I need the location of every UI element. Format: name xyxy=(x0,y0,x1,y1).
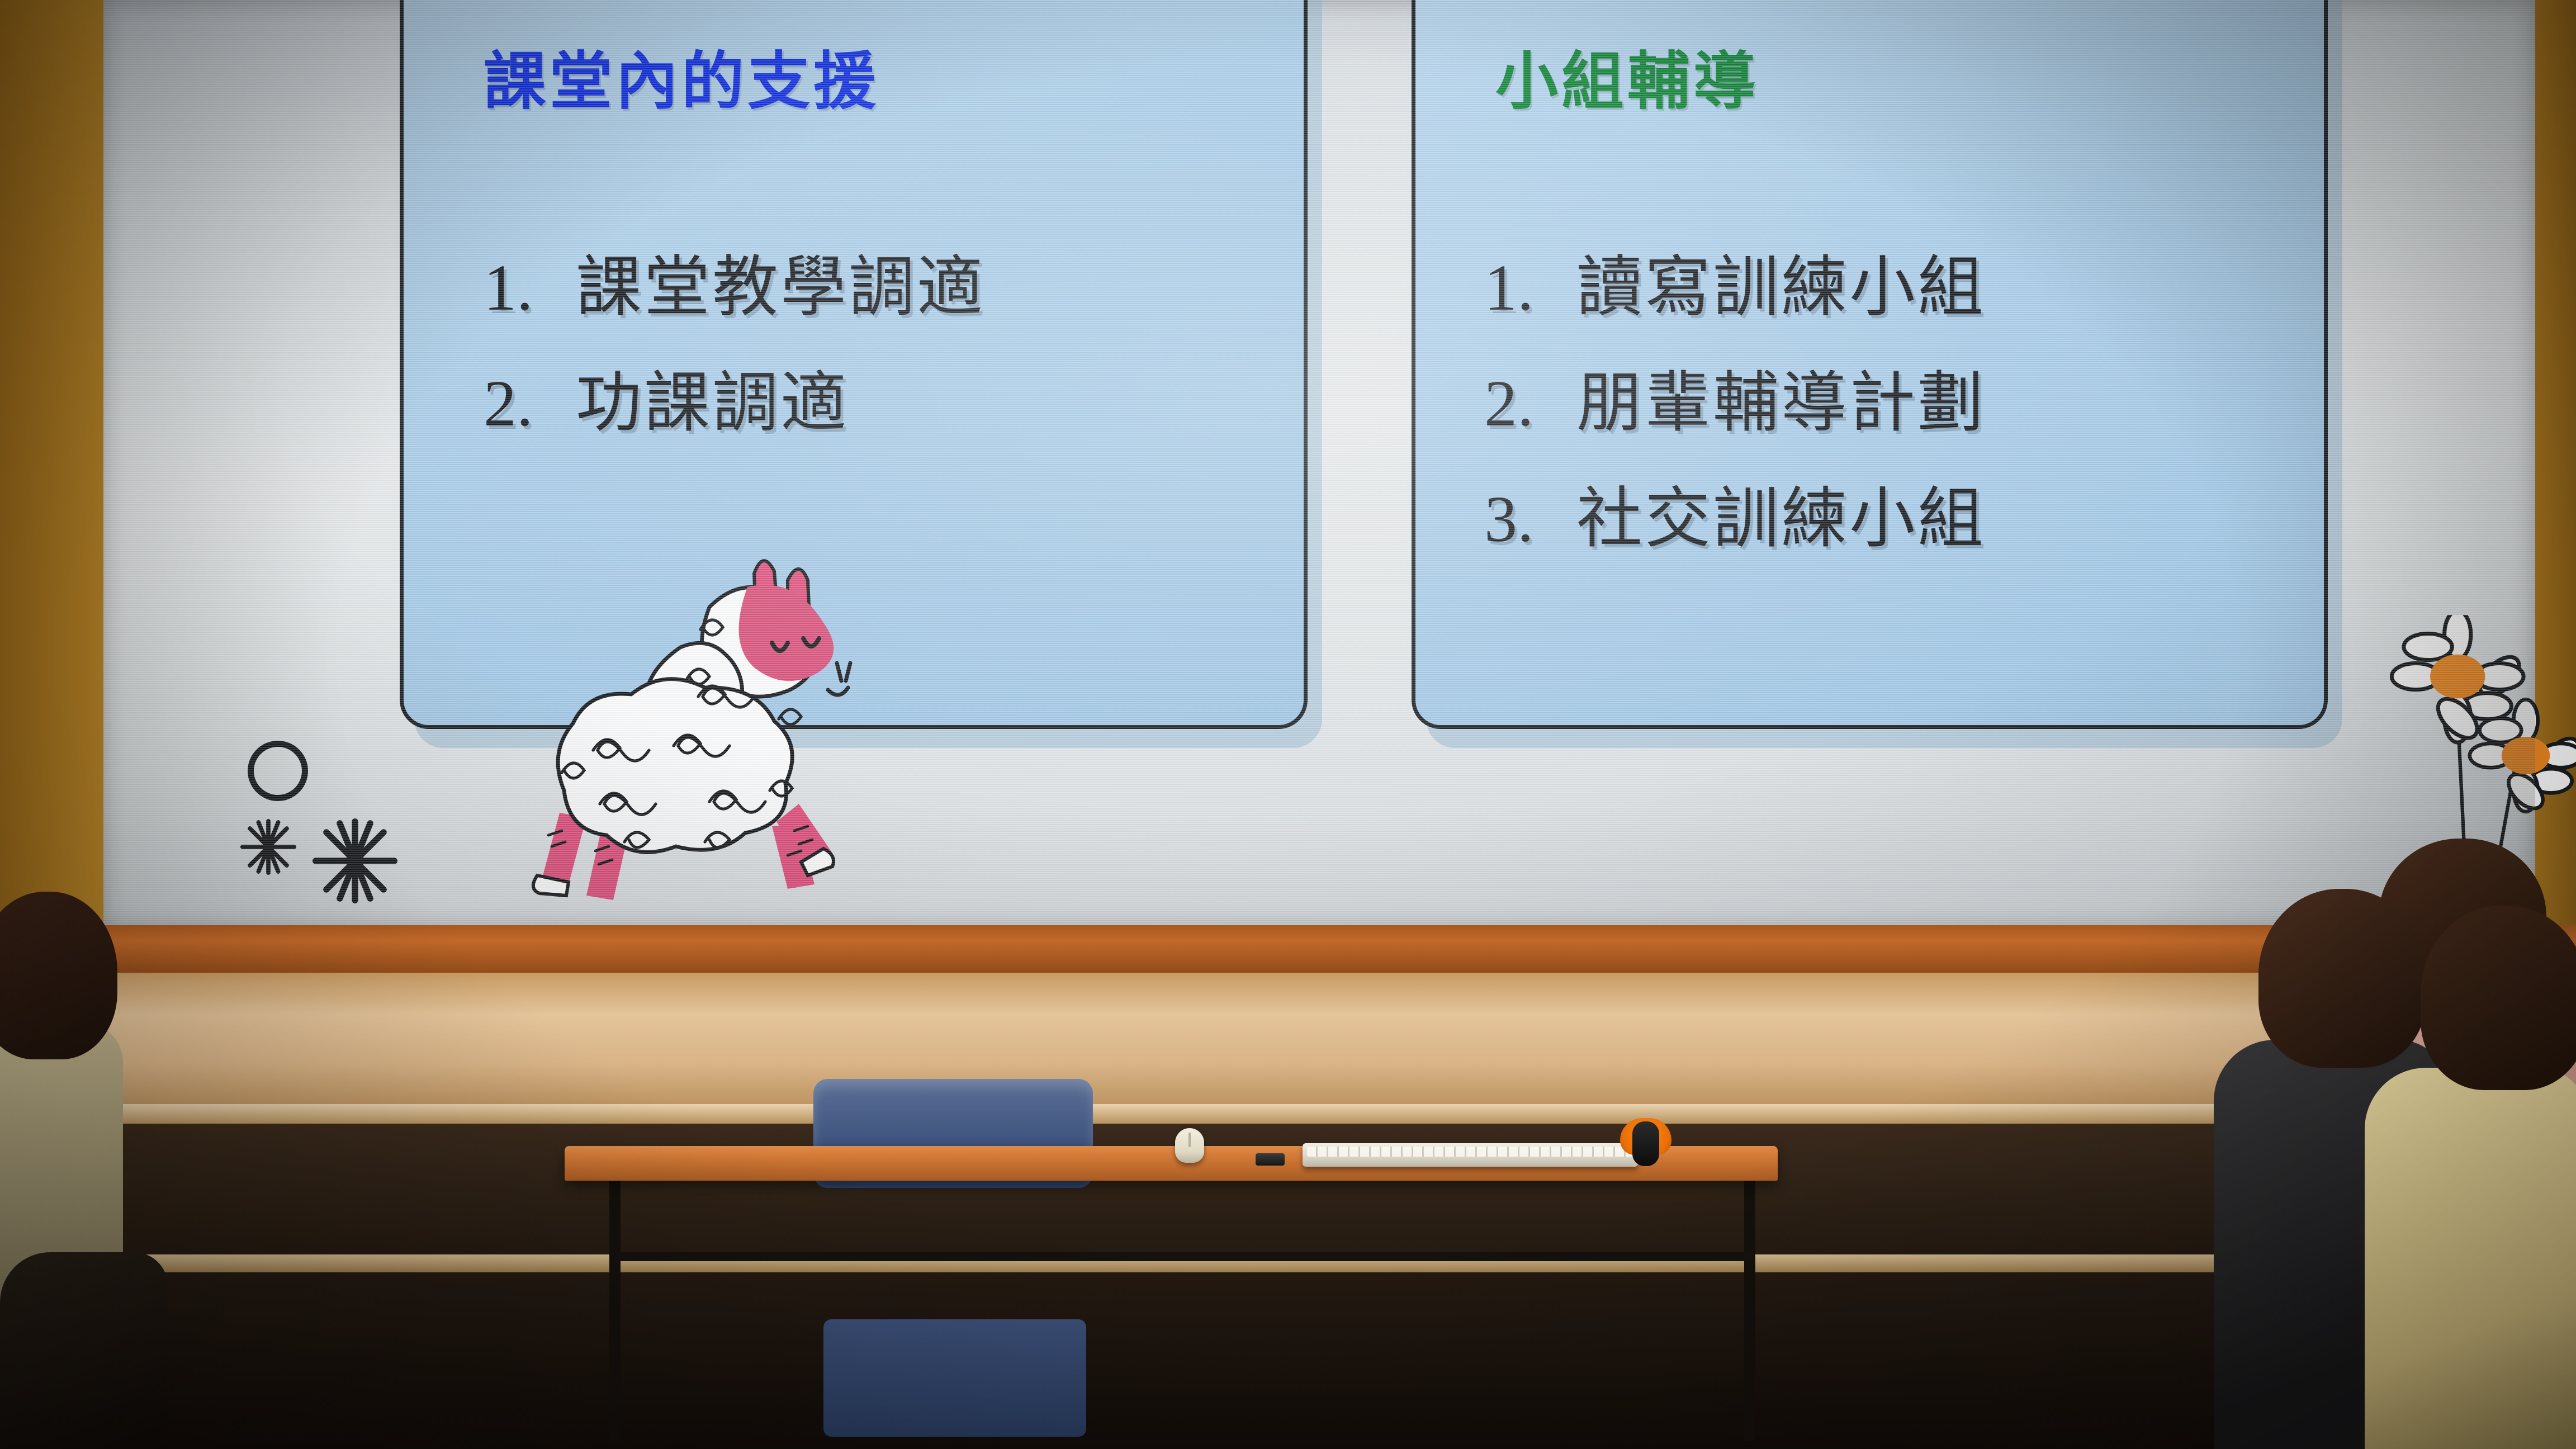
circle-doodle-icon xyxy=(248,741,308,801)
list-item-number: 1. xyxy=(1484,255,1576,321)
desk-leg-left xyxy=(609,1178,621,1441)
list-item-text: 功課調適 xyxy=(576,370,849,436)
room-wall-left-shadow xyxy=(0,0,109,928)
list-item: 3. 社交訓練小組 xyxy=(1484,486,1986,552)
stage-rail xyxy=(0,925,2576,976)
computer-keyboard[interactable] xyxy=(1303,1143,1638,1167)
spare-microphone[interactable] xyxy=(1620,1118,1671,1166)
audience-member-yellow xyxy=(2365,1068,2576,1449)
mouse-scroll-wheel xyxy=(1188,1133,1191,1147)
panel-left-list: 1. 課堂教學調適 2. 功課調適 xyxy=(484,254,985,486)
list-item-number: 1. xyxy=(484,255,576,321)
list-item-text: 讀寫訓練小組 xyxy=(1576,254,1986,320)
audience-head-yellow xyxy=(2421,906,2576,1090)
floor xyxy=(0,1272,2576,1449)
list-item-number: 2. xyxy=(484,371,576,437)
audience-foreground-left xyxy=(0,1252,168,1449)
audience-head-black xyxy=(2258,889,2426,1068)
list-item-text: 朋輩輔導計劃 xyxy=(1576,370,1986,436)
list-item: 2. 功課調適 xyxy=(484,370,985,437)
keyboard-keys xyxy=(1307,1147,1633,1157)
list-item: 1. 課堂教學調適 xyxy=(484,254,985,321)
stage-wood-band xyxy=(0,973,2576,1112)
screenshot-root: 課堂內的支援 1. 課堂教學調適 2. 功課調適 小組輔導 1. 讀寫訓練小組 … xyxy=(0,0,2576,1449)
microphone-body xyxy=(1632,1121,1659,1166)
star-doodle-large-icon xyxy=(310,816,400,906)
chair-seat xyxy=(823,1319,1086,1437)
list-item: 2. 朋輩輔導計劃 xyxy=(1484,370,1986,437)
desk-crossbar xyxy=(615,1252,1753,1261)
list-item-text: 社交訓練小組 xyxy=(1576,486,1986,552)
sheep-doodle-icon xyxy=(506,553,875,900)
computer-mouse[interactable] xyxy=(1175,1128,1204,1163)
desk-leg-right xyxy=(1744,1178,1755,1441)
stage-edge xyxy=(0,1104,2576,1126)
panel-right-title: 小組輔導 xyxy=(1495,50,1759,113)
list-item-number: 2. xyxy=(1484,371,1576,437)
presentation-clicker[interactable] xyxy=(1256,1153,1285,1166)
stage-underside xyxy=(0,1124,2576,1258)
list-item-text: 課堂教學調適 xyxy=(576,254,985,320)
panel-left-title: 課堂內的支援 xyxy=(484,50,879,113)
projection-screen: 課堂內的支援 1. 課堂教學調適 2. 功課調適 小組輔導 1. 讀寫訓練小組 … xyxy=(103,0,2535,928)
star-doodle-small-icon xyxy=(238,816,299,878)
panel-right-list: 1. 讀寫訓練小組 2. 朋輩輔導計劃 3. 社交訓練小組 xyxy=(1484,254,1986,602)
list-item-number: 3. xyxy=(1484,486,1576,552)
list-item: 1. 讀寫訓練小組 xyxy=(1484,254,1986,321)
